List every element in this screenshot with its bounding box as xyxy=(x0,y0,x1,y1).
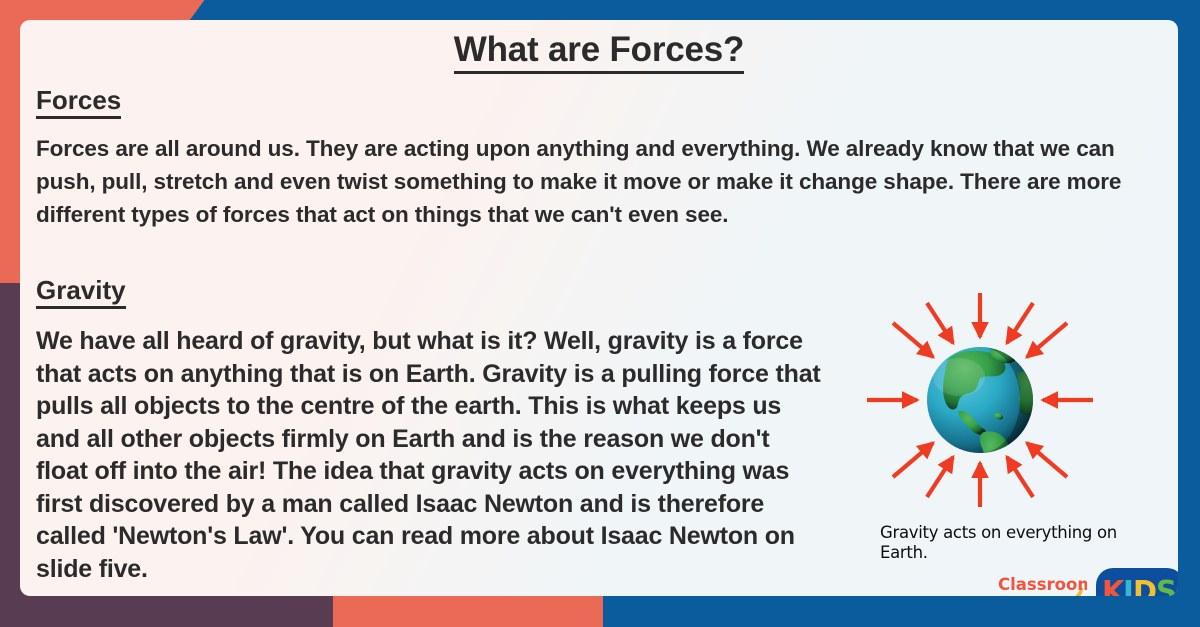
section-heading-gravity: Gravity xyxy=(36,275,126,306)
gravity-arrow xyxy=(893,323,933,357)
branding-logos: Classroom secrets K I D S xyxy=(995,565,1178,596)
gravity-arrow xyxy=(927,457,953,497)
earth-globe-icon xyxy=(927,347,1046,479)
section-body-forces: Forces are all around us. They are actin… xyxy=(36,132,1146,231)
section-heading-gravity-text: Gravity xyxy=(36,275,126,309)
gravity-arrow xyxy=(1027,443,1067,477)
gravity-arrow xyxy=(893,443,933,477)
logo-word-secrets: secrets xyxy=(1009,594,1069,596)
gravity-arrow xyxy=(927,303,953,343)
page-title-text: What are Forces? xyxy=(454,30,745,74)
section-body-gravity: We have all heard of gravity, but what i… xyxy=(36,325,826,585)
kids-letter-k: K xyxy=(1102,575,1126,597)
kids-letter-d: D xyxy=(1133,575,1157,597)
section-heading-forces: Forces xyxy=(36,85,121,116)
logo-word-classroom: Classroom xyxy=(998,575,1087,594)
slide-content-card: What are Forces? Forces Forces are all a… xyxy=(20,20,1178,596)
gravity-arrow xyxy=(1007,457,1033,497)
kids-letter-i: I xyxy=(1123,575,1134,597)
kids-logo: K I D S xyxy=(1095,565,1178,596)
earth-gravity-arrows-icon xyxy=(855,285,1105,515)
background-coral-left-strip xyxy=(0,0,22,285)
section-heading-forces-text: Forces xyxy=(36,85,121,119)
page-title: What are Forces? xyxy=(20,30,1178,70)
gravity-arrow xyxy=(1027,323,1067,357)
gravity-figure: Gravity acts on everything on Earth. xyxy=(855,285,1145,575)
classroom-secrets-logo: Classroom secrets xyxy=(995,568,1087,596)
background-coral-bottom-band xyxy=(333,596,603,627)
slide-root: What are Forces? Forces Forces are all a… xyxy=(0,0,1200,627)
gravity-arrow xyxy=(1007,303,1033,343)
figure-caption: Gravity acts on everything on Earth. xyxy=(880,523,1120,563)
kids-letter-s: S xyxy=(1156,575,1177,597)
